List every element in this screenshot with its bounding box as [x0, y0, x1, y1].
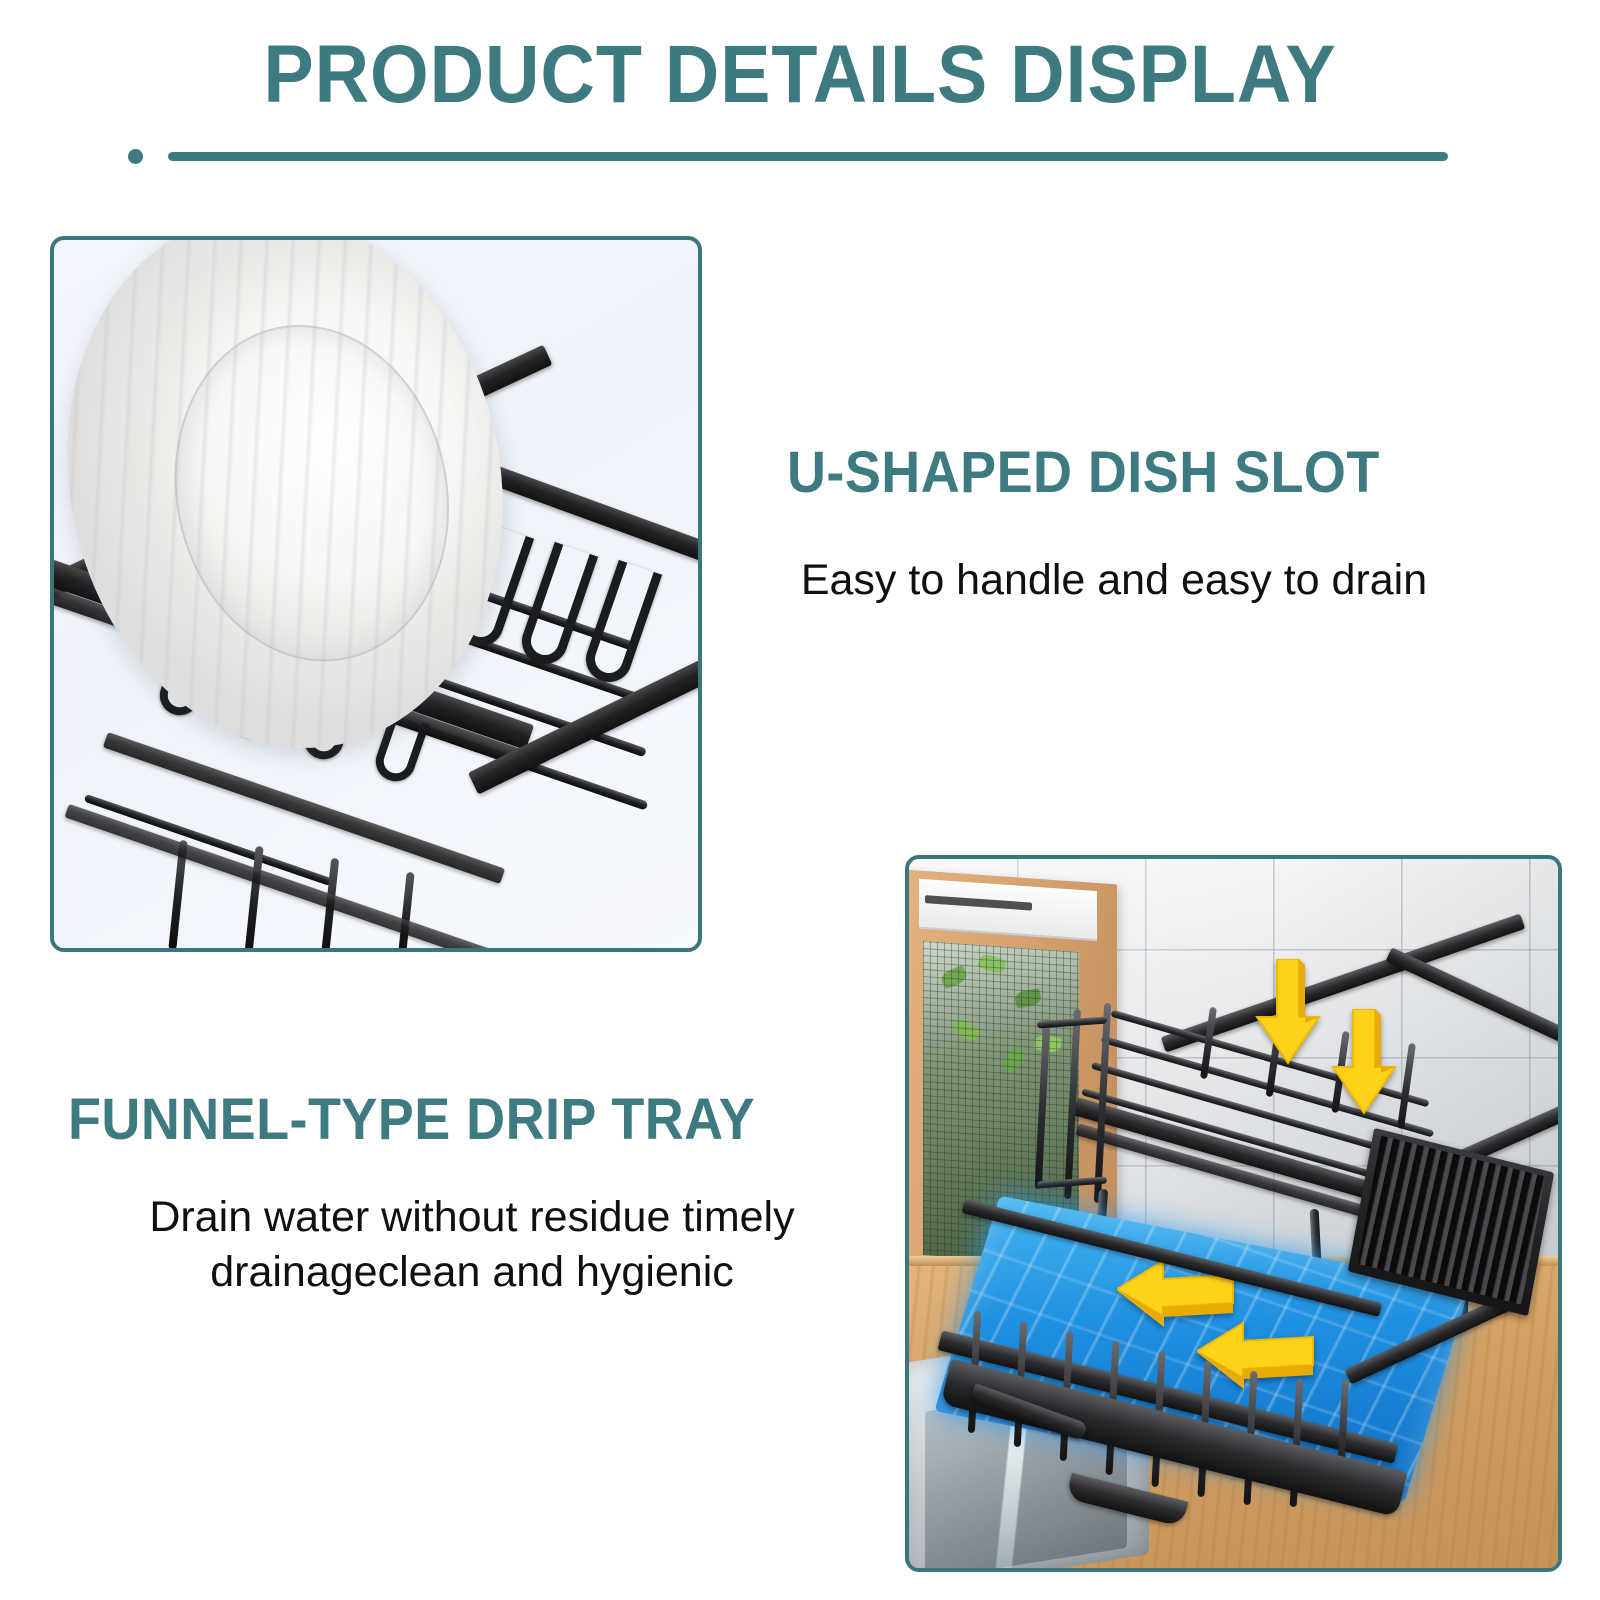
rack-lower-tier-wire: [244, 846, 263, 952]
kitchen-illustration: [909, 859, 1558, 1568]
title-divider: [128, 148, 1448, 164]
feature-body-funnel-type-drip-tray: Drain water without residue timely drain…: [80, 1190, 864, 1300]
divider-bar: [168, 152, 1448, 161]
rack-lower-tier-rail: [65, 804, 514, 952]
u-shaped-slot: [580, 560, 663, 688]
panel-dish-slot-closeup: [50, 236, 702, 952]
down-arrow-icon: [1253, 959, 1323, 1069]
rack-lower-tier-rail: [103, 732, 505, 884]
feature-heading-u-shaped-dish-slot: U-SHAPED DISH SLOT: [787, 443, 1380, 504]
feature-body-u-shaped-dish-slot: Easy to handle and easy to drain: [744, 553, 1484, 608]
divider-dot-icon: [128, 149, 143, 164]
page-title: PRODUCT DETAILS DISPLAY: [64, 34, 1536, 116]
rack-lower-tier-wire: [397, 872, 414, 952]
down-arrow-icon: [1329, 1009, 1399, 1119]
dish-slot-illustration: [54, 240, 698, 948]
feature-heading-funnel-type-drip-tray: FUNNEL-TYPE DRIP TRAY: [68, 1090, 755, 1151]
panel-kitchen-scene: [905, 855, 1562, 1572]
